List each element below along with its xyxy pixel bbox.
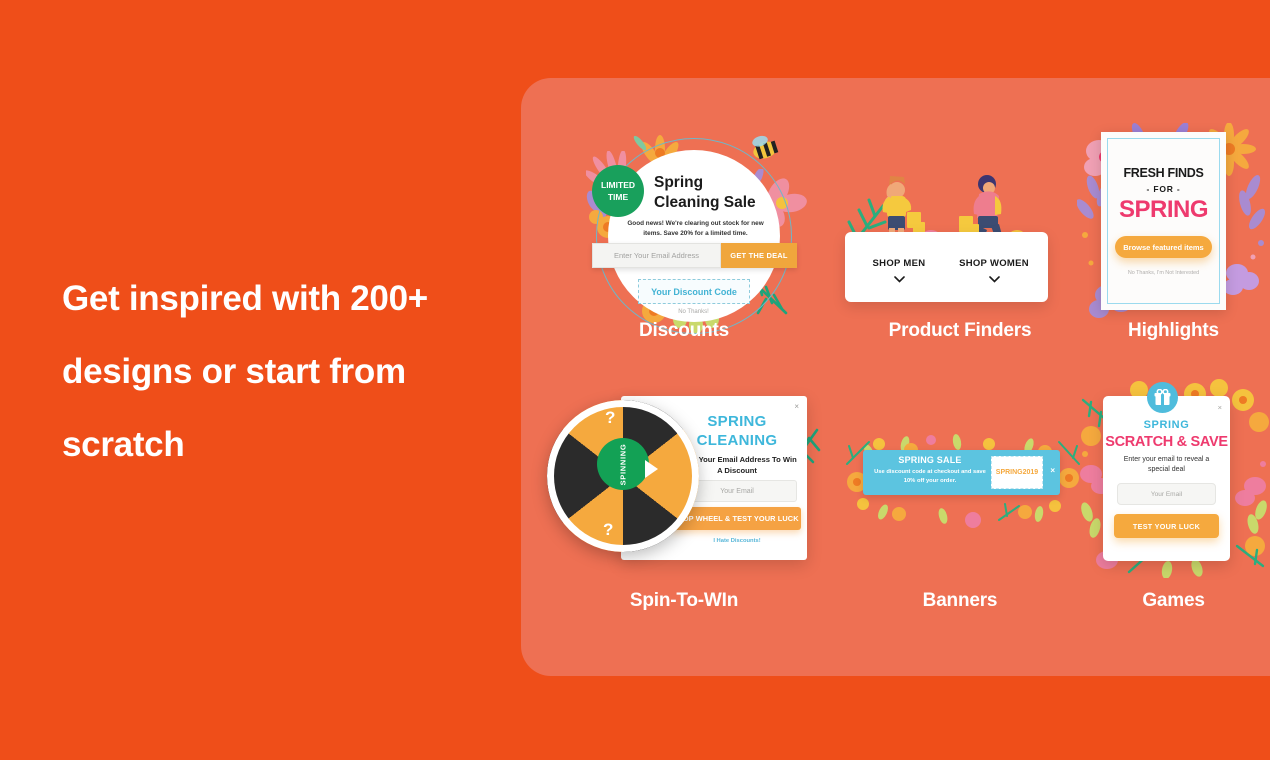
- discount-code-field[interactable]: Your Discount Code: [638, 279, 750, 304]
- wheel-pointer-icon: [645, 460, 658, 478]
- discounts-dismiss-link[interactable]: No Thanks!: [586, 309, 801, 315]
- shop-men-label: SHOP MEN: [851, 258, 947, 269]
- games-title-line-1: SPRING: [1103, 419, 1230, 431]
- page-headline: Get inspired with 200+ designs or start …: [62, 262, 502, 481]
- highlights-title-line-3: SPRING: [1101, 196, 1226, 224]
- wheel-hub-label: SPINNING: [618, 443, 627, 485]
- get-the-deal-button[interactable]: GET THE DEAL: [721, 243, 797, 268]
- banner-coupon-code[interactable]: SPRING2019: [991, 456, 1043, 489]
- games-preview: × SPRING SCRATCH & SAVE Enter your email…: [1077, 378, 1270, 578]
- wheel-segment-mark: ?: [605, 408, 615, 428]
- discounts-title-line-1: Spring: [654, 173, 774, 193]
- discounts-signup-form: Enter Your Email Address GET THE DEAL: [592, 243, 797, 268]
- template-card-discounts[interactable]: LIMITED TIME Spring Cleaning Sale Good n…: [541, 108, 827, 308]
- discounts-preview: LIMITED TIME Spring Cleaning Sale Good n…: [586, 133, 801, 333]
- close-icon[interactable]: ×: [1050, 466, 1055, 475]
- wheel-hub: SPINNING: [597, 438, 649, 490]
- category-label-discounts: Discounts: [541, 320, 827, 342]
- template-card-games[interactable]: × SPRING SCRATCH & SAVE Enter your email…: [1077, 378, 1270, 578]
- category-label-highlights: Highlights: [1077, 320, 1270, 342]
- close-icon[interactable]: ×: [794, 402, 799, 411]
- shop-men-option[interactable]: SHOP MEN: [851, 258, 947, 282]
- close-icon[interactable]: ×: [1218, 403, 1222, 412]
- discounts-email-input[interactable]: Enter Your Email Address: [592, 243, 721, 268]
- category-label-games: Games: [1077, 590, 1270, 612]
- gift-icon: [1147, 382, 1178, 413]
- highlights-preview: FRESH FINDS - FOR - SPRING Browse featur…: [1077, 123, 1270, 323]
- chevron-down-icon: [989, 276, 999, 282]
- product-finder-modal: SHOP MEN SHOP WOMEN: [845, 232, 1048, 302]
- template-gallery-panel: LIMITED TIME Spring Cleaning Sale Good n…: [521, 78, 1270, 676]
- spin-title-line-1: SPRING: [675, 412, 799, 431]
- test-your-luck-button[interactable]: TEST YOUR LUCK: [1114, 514, 1219, 538]
- games-subtitle: Enter your email to reveal a special dea…: [1113, 455, 1220, 475]
- product-finders-preview: SHOP MEN SHOP WOMEN: [817, 130, 1103, 330]
- spin-to-win-preview: × SPRING CLEANING Enter Your Email Addre…: [579, 388, 819, 568]
- shop-women-label: SHOP WOMEN: [946, 258, 1042, 269]
- games-email-input[interactable]: Your Email: [1117, 483, 1216, 505]
- games-modal: × SPRING SCRATCH & SAVE Enter your email…: [1103, 396, 1230, 561]
- discounts-body-text: Good news! We're clearing out stock for …: [618, 219, 773, 238]
- games-title-line-2: SCRATCH & SAVE: [1103, 434, 1230, 450]
- category-label-banners: Banners: [817, 590, 1103, 612]
- wheel-segment-mark: ?: [603, 520, 613, 540]
- highlights-dismiss-link[interactable]: No Thanks, I'm Not Interested: [1101, 270, 1226, 276]
- spin-title: SPRING CLEANING: [675, 412, 799, 450]
- banner-body: Use discount code at checkout and save 1…: [873, 468, 987, 485]
- badge-line-1: LIMITED: [601, 179, 635, 191]
- limited-time-badge: LIMITED TIME: [592, 165, 644, 217]
- discounts-title: Spring Cleaning Sale: [654, 173, 774, 213]
- template-card-product-finders[interactable]: SHOP MEN SHOP WOMEN Product Finders: [817, 108, 1103, 308]
- discounts-title-line-2: Cleaning Sale: [654, 193, 774, 213]
- spin-dismiss-link[interactable]: I Hate Discounts!: [675, 538, 799, 544]
- browse-featured-items-button[interactable]: Browse featured items: [1115, 236, 1212, 258]
- banner-bar: SPRING SALE Use discount code at checkou…: [863, 450, 1060, 495]
- banners-preview: SPRING SALE Use discount code at checkou…: [817, 426, 1103, 536]
- badge-line-2: TIME: [608, 191, 628, 203]
- category-label-product-finders: Product Finders: [817, 320, 1103, 342]
- banner-title: SPRING SALE: [875, 455, 985, 465]
- highlights-modal: FRESH FINDS - FOR - SPRING Browse featur…: [1101, 132, 1226, 310]
- template-grid: LIMITED TIME Spring Cleaning Sale Good n…: [521, 78, 1270, 676]
- shop-women-option[interactable]: SHOP WOMEN: [946, 258, 1042, 282]
- template-card-highlights[interactable]: FRESH FINDS - FOR - SPRING Browse featur…: [1077, 108, 1270, 308]
- highlights-title-line-2: - FOR -: [1101, 184, 1226, 194]
- highlights-title-line-1: FRESH FINDS: [1101, 166, 1226, 180]
- chevron-down-icon: [894, 276, 904, 282]
- template-card-spin-to-win[interactable]: × SPRING CLEANING Enter Your Email Addre…: [541, 378, 827, 578]
- template-card-banners[interactable]: SPRING SALE Use discount code at checkou…: [817, 378, 1103, 578]
- category-label-spin-to-win: Spin-To-WIn: [541, 590, 827, 612]
